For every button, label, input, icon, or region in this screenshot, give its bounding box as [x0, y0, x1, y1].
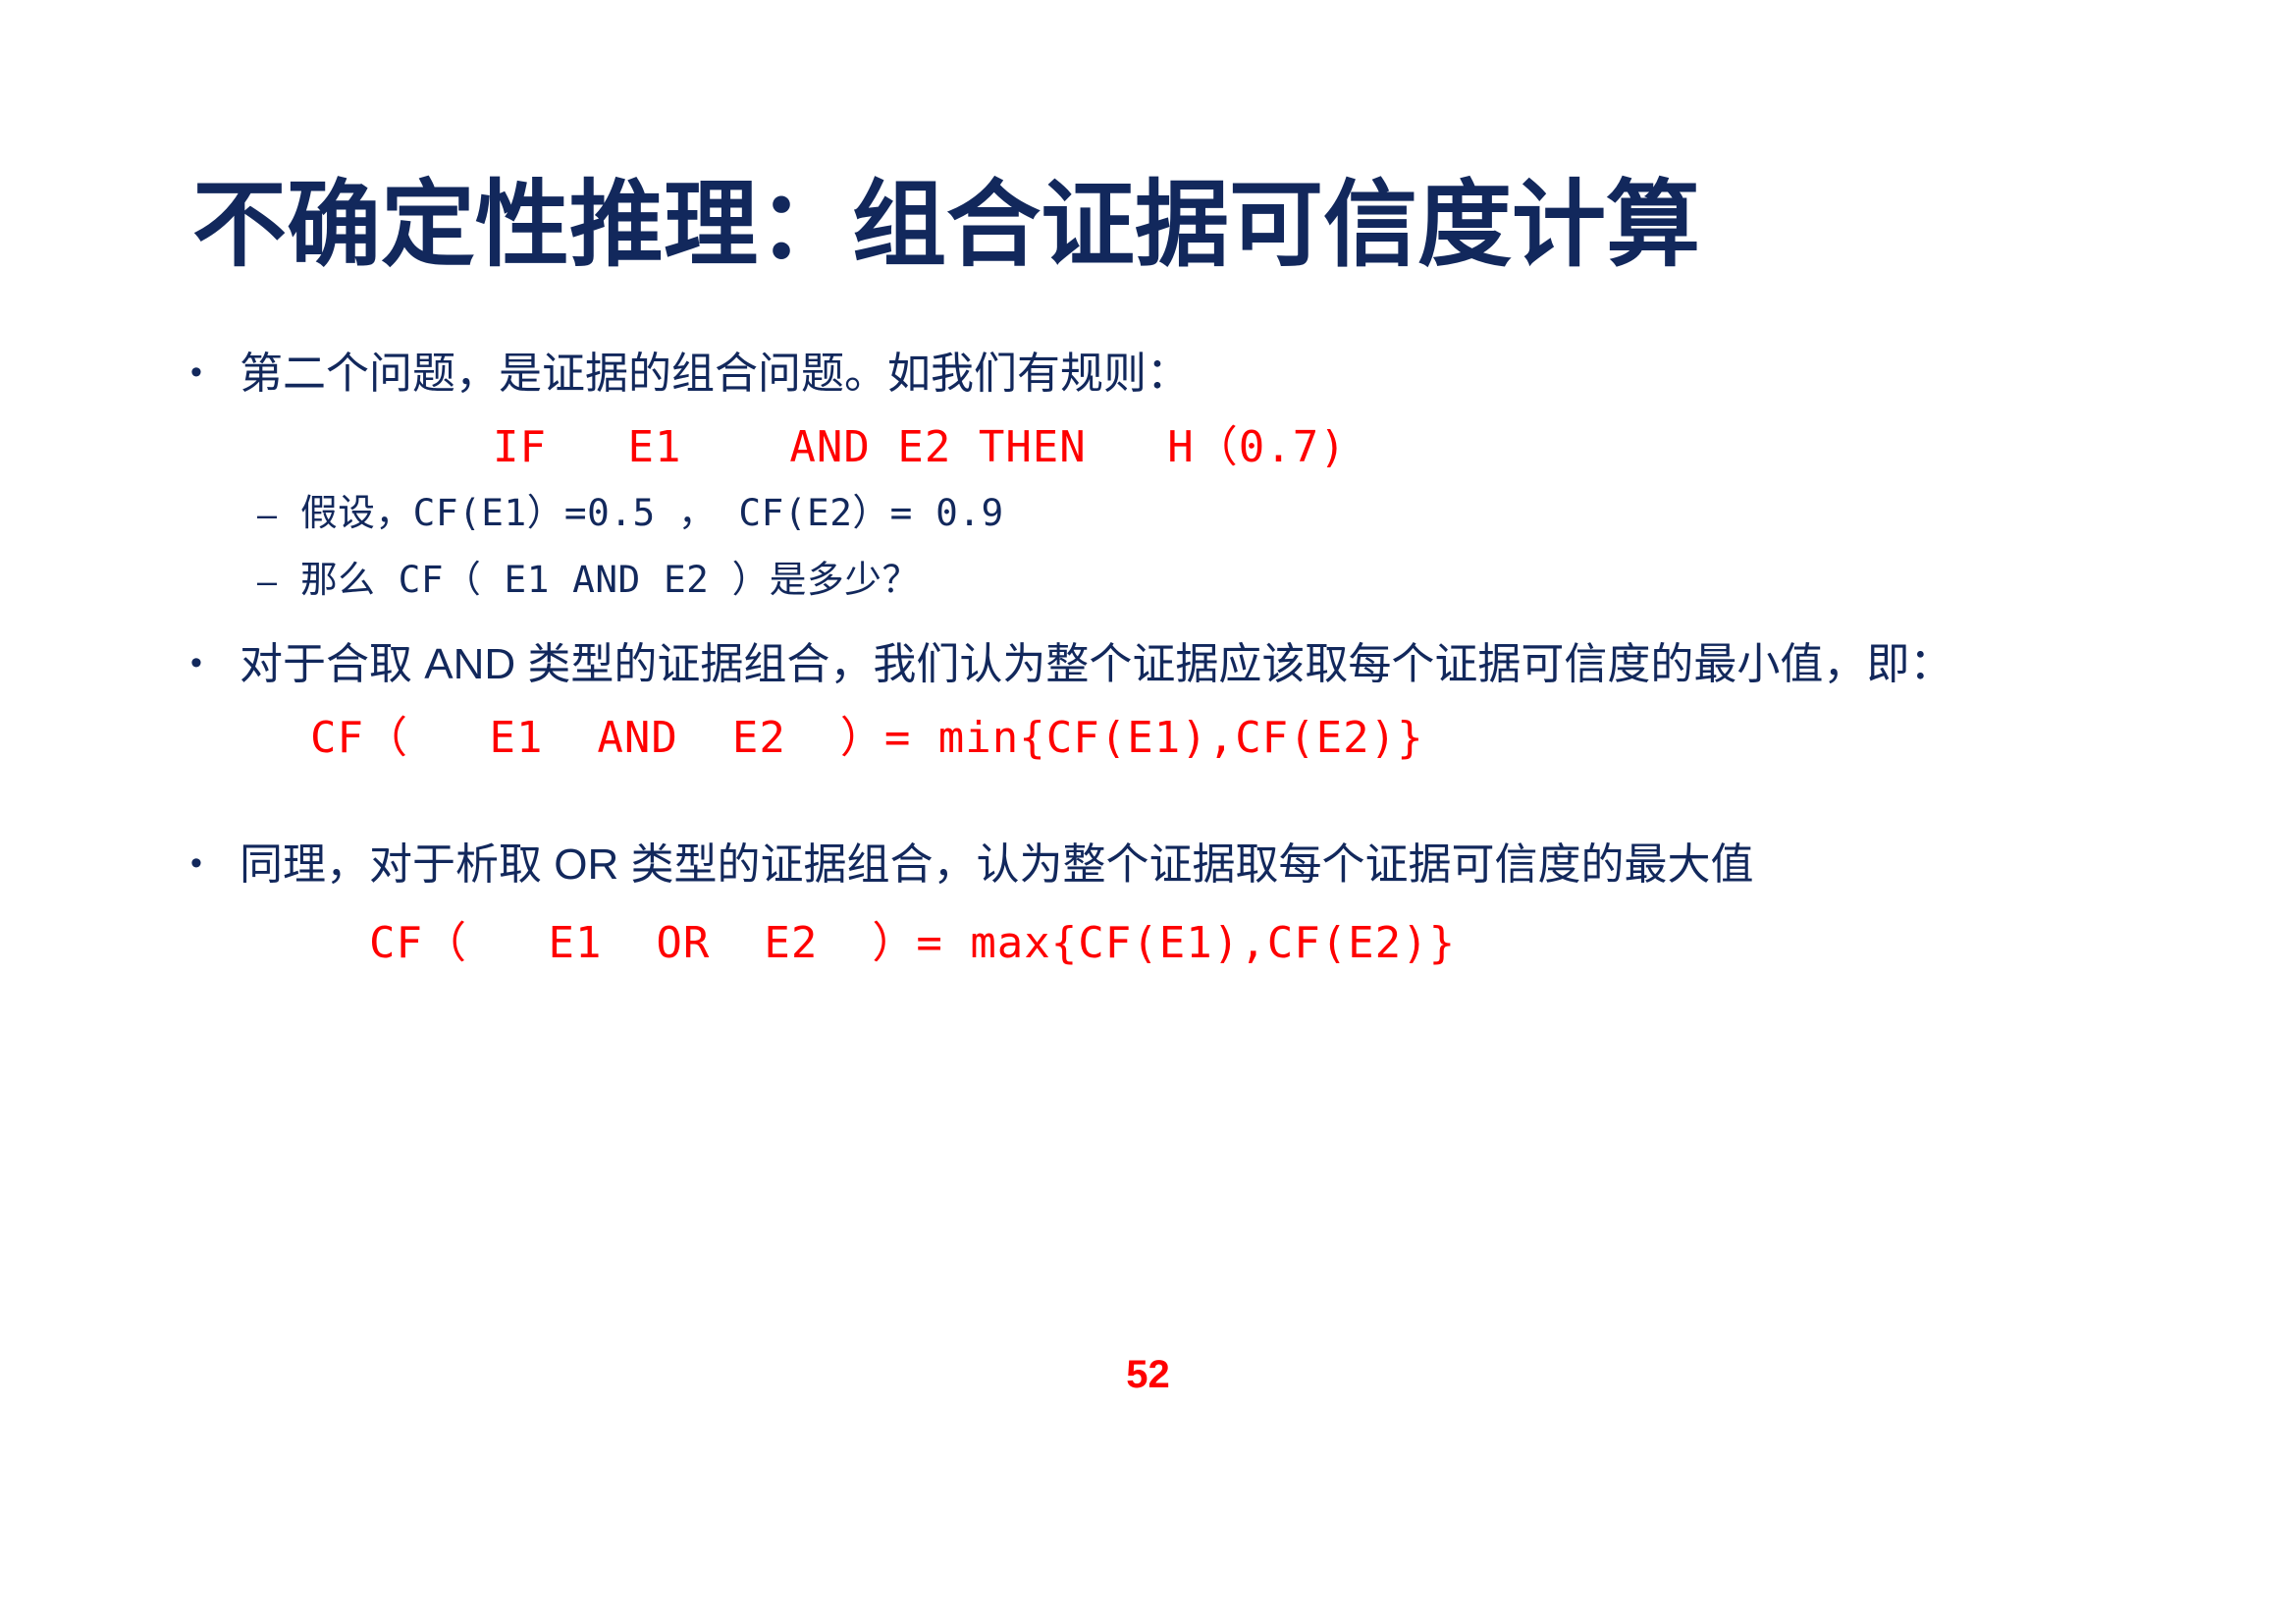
max-formula: CF（ E1 OR E2 ）= max{CF(E1),CF(E2)} [369, 915, 2205, 971]
dash-marker-icon: – [257, 489, 300, 540]
page-number: 52 [0, 1353, 2296, 1397]
bullet-marker-icon: • [183, 636, 240, 690]
bullet-2-text: 对于合取 AND 类型的证据组合，我们认为整个证据应该取每个证据可信度的最小值，… [240, 636, 2205, 692]
sub-bullet-2-text: 那么 CF（ E1 AND E2 ）是多少？ [300, 556, 2205, 605]
bullet-item-1: • 第二个问题，是证据的组合问题。如我们有规则： [183, 346, 2205, 402]
sub-bullet-1-text: 假设，CF(E1）=0.5 ， CF(E2）= 0.9 [300, 489, 2205, 538]
bullet-item-2: • 对于合取 AND 类型的证据组合，我们认为整个证据应该取每个证据可信度的最小… [183, 636, 2205, 692]
dash-marker-icon: – [257, 556, 300, 607]
slide-body: • 第二个问题，是证据的组合问题。如我们有规则： IF E1 AND E2 TH… [183, 346, 2205, 971]
slide: 不确定性推理：组合证据可信度计算 • 第二个问题，是证据的组合问题。如我们有规则… [0, 0, 2296, 1624]
spacer [183, 766, 2205, 837]
sub-bullet-item-1: – 假设，CF(E1）=0.5 ， CF(E2）= 0.9 [257, 489, 2205, 540]
bullet-marker-icon: • [183, 837, 240, 891]
bullet-1-text: 第二个问题，是证据的组合问题。如我们有规则： [240, 346, 2205, 402]
spacer [183, 607, 2205, 636]
page-title: 不确定性推理：组合证据可信度计算 [192, 173, 2156, 279]
spacer [183, 540, 2205, 556]
bullet-marker-icon: • [183, 346, 240, 400]
bullet-3-text: 同理，对于析取 OR 类型的证据组合，认为整个证据取每个证据可信度的最大值 [240, 837, 2205, 893]
sub-bullet-item-2: – 那么 CF（ E1 AND E2 ）是多少？ [257, 556, 2205, 607]
bullet-item-3: • 同理，对于析取 OR 类型的证据组合，认为整个证据取每个证据可信度的最大值 [183, 837, 2205, 893]
min-formula: CF（ E1 AND E2 ）= min{CF(E1),CF(E2)} [310, 710, 2205, 766]
rule-formula: IF E1 AND E2 THEN H（0.7) [493, 419, 2205, 475]
